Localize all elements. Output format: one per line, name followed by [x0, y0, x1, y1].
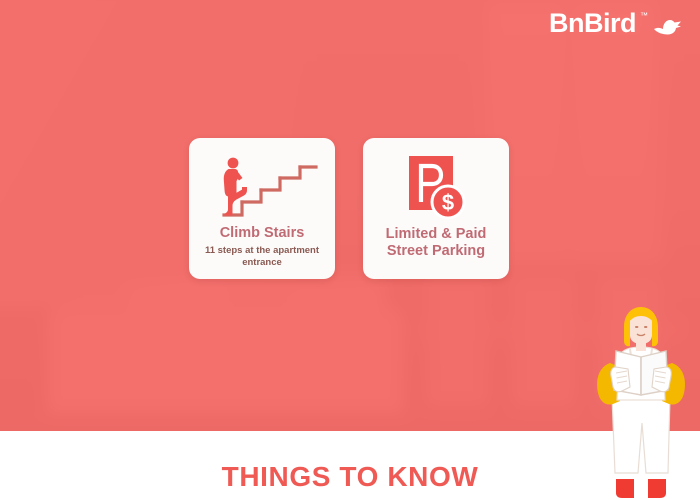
bird-icon: [652, 16, 682, 41]
card-title: Climb Stairs: [220, 225, 305, 242]
info-cards: Climb Stairs 11 steps at the apartment e…: [189, 138, 509, 279]
footer-title: THINGS TO KNOW: [222, 461, 479, 493]
person-reading-book-illustration: [586, 305, 696, 500]
brand-logo[interactable]: BnBird ™: [549, 10, 682, 41]
paid-parking-icon: $: [401, 152, 471, 224]
svg-text:$: $: [442, 190, 454, 215]
card-climb-stairs[interactable]: Climb Stairs 11 steps at the apartment e…: [189, 138, 335, 279]
card-paid-parking[interactable]: $ Limited & Paid Street Parking: [363, 138, 509, 279]
trademark-symbol: ™: [640, 12, 648, 20]
climb-stairs-icon: [206, 152, 318, 223]
card-subtitle: 11 steps at the apartment entrance: [197, 245, 327, 269]
card-title: Limited & Paid Street Parking: [371, 226, 501, 260]
brand-name: BnBird: [549, 10, 636, 37]
slide: BnBird ™: [0, 0, 700, 500]
